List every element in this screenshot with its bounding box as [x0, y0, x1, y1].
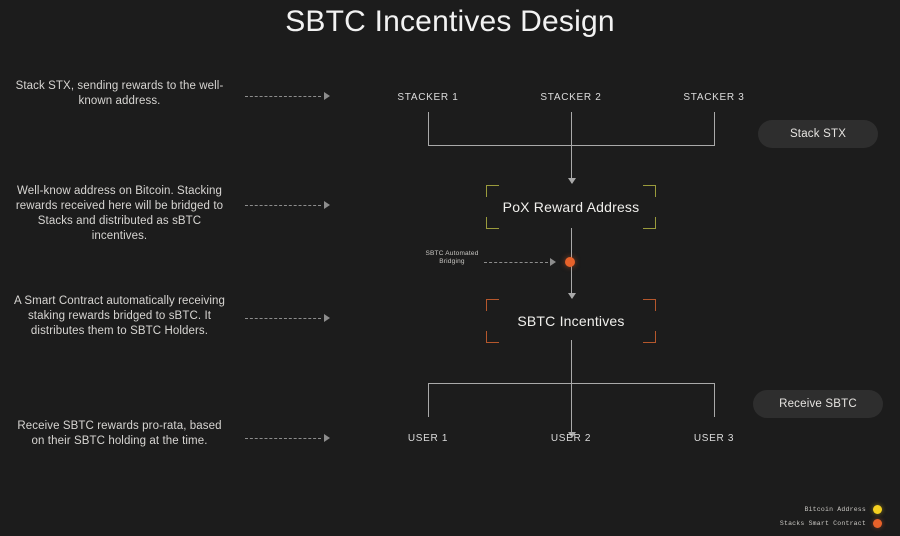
tree-leg-middle — [571, 112, 572, 146]
dashed-line — [245, 205, 321, 206]
bridging-dashed-arrow-icon — [484, 258, 556, 268]
node-stacker-1: STACKER 1 — [373, 92, 483, 103]
tree-leg-left — [428, 383, 429, 417]
arrow-stackers-to-pox — [571, 145, 572, 183]
stacks-smart-contract-dot-icon — [565, 257, 575, 267]
dashed-line — [245, 96, 321, 97]
node-pox-reward-address[interactable]: PoX Reward Address — [486, 185, 656, 229]
bridging-label: SBTC Automated Bridging — [424, 250, 480, 266]
pill-receive-sbtc[interactable]: Receive SBTC — [753, 390, 883, 418]
arrowhead-icon — [324, 92, 330, 100]
tree-leg-middle — [571, 383, 572, 417]
arrowhead-icon — [324, 314, 330, 322]
description-stack-stx: Stack STX, sending rewards to the well-k… — [12, 79, 227, 109]
node-user-3: USER 3 — [659, 433, 769, 444]
stacks-smart-contract-dot-icon — [873, 519, 882, 528]
dashed-arrow-icon-row3 — [245, 314, 330, 324]
stacker-merge-tree — [428, 112, 715, 146]
arrow-sbtc-to-users — [571, 340, 572, 385]
page-title: SBTC Incentives Design — [0, 0, 900, 42]
dashed-line — [245, 318, 321, 319]
pox-reward-address-label: PoX Reward Address — [486, 185, 656, 229]
bitcoin-address-dot-icon — [873, 505, 882, 514]
dashed-arrow-icon-row1 — [245, 92, 330, 102]
legend-label-stacks-smart-contract: Stacks Smart Contract — [780, 520, 866, 527]
legend-item-bitcoin-address: Bitcoin Address — [712, 502, 882, 516]
tree-leg-right — [714, 383, 715, 417]
node-user-2: USER 2 — [516, 433, 626, 444]
node-sbtc-incentives[interactable]: SBTC Incentives — [486, 299, 656, 343]
description-receive-rewards: Receive SBTC rewards pro-rata, based on … — [12, 419, 227, 449]
tree-leg-right — [714, 112, 715, 146]
diagram-canvas: SBTC Incentives Design Stack STX, sendin… — [0, 0, 900, 536]
tree-leg-left — [428, 112, 429, 146]
description-smart-contract: A Smart Contract automatically receiving… — [12, 294, 227, 339]
pill-stack-stx[interactable]: Stack STX — [758, 120, 878, 148]
legend-item-stacks-smart-contract: Stacks Smart Contract — [712, 516, 882, 530]
dashed-line — [484, 262, 548, 263]
sbtc-incentives-label: SBTC Incentives — [486, 299, 656, 343]
legend: Bitcoin Address Stacks Smart Contract — [712, 502, 882, 530]
arrowhead-icon — [324, 201, 330, 209]
description-well-known-address: Well-know address on Bitcoin. Stacking r… — [12, 184, 227, 244]
node-user-1: USER 1 — [373, 433, 483, 444]
node-stacker-2: STACKER 2 — [516, 92, 626, 103]
dashed-arrow-icon-row4 — [245, 434, 330, 444]
dashed-line — [245, 438, 321, 439]
arrowhead-icon — [550, 258, 556, 266]
legend-label-bitcoin-address: Bitcoin Address — [804, 506, 866, 513]
dashed-arrow-icon-row2 — [245, 201, 330, 211]
arrowhead-icon — [568, 178, 576, 184]
node-stacker-3: STACKER 3 — [659, 92, 769, 103]
user-split-tree — [428, 383, 715, 417]
arrowhead-icon — [324, 434, 330, 442]
